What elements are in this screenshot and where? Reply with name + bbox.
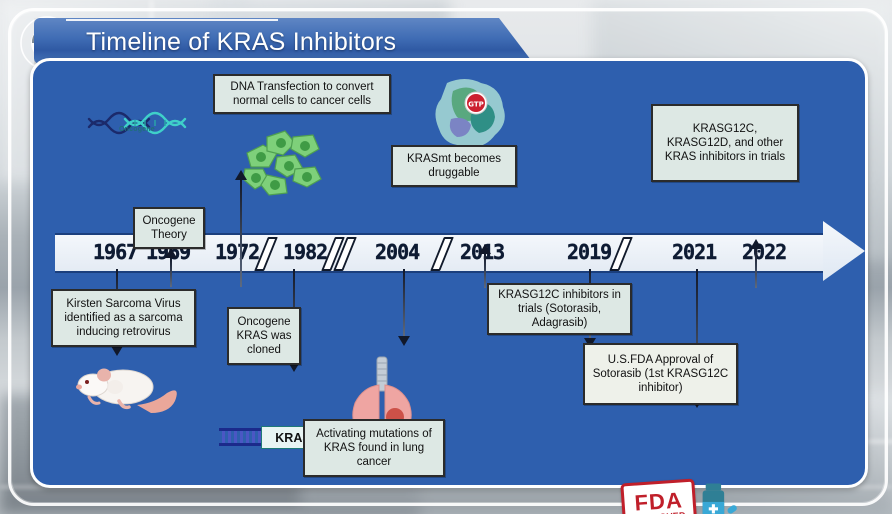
pill-bottle-icon — [698, 479, 738, 514]
callout-krasg12c-trials[interactable]: KRASG12C inhibitors in trials (Sotorasib… — [487, 283, 632, 335]
fda-approved-stamp: FDA APPROVED — [620, 478, 697, 514]
mouse-icon — [71, 359, 183, 421]
year-label-2019: 2019 — [567, 239, 611, 265]
connector-arrow-down — [403, 269, 405, 337]
infographic-canvas: Timeline of KRAS Inhibitors Oncogene — [0, 0, 892, 514]
callout-dna-transfection[interactable]: DNA Transfection to convert normal cells… — [213, 74, 391, 114]
page-title: Timeline of KRAS Inhibitors — [86, 24, 516, 60]
callout-oncogene-theory[interactable]: Oncogene Theory — [133, 207, 205, 249]
year-label-1967: 1967 — [93, 239, 137, 265]
year-label-1982: 1982 — [283, 239, 327, 265]
callout-fda-approval-sotorasib[interactable]: U.S.FDA Approval of Sotorasib (1st KRASG… — [583, 343, 738, 405]
timeline-arrowhead — [823, 221, 865, 281]
year-label-2021: 2021 — [672, 239, 716, 265]
year-label-2022: 2022 — [742, 239, 786, 265]
year-label-2004: 2004 — [375, 239, 419, 265]
connector-arrow-up — [240, 179, 242, 287]
callout-krasmt-druggable[interactable]: KRASmt becomes druggable — [391, 145, 517, 187]
connector-arrow-up — [170, 257, 172, 287]
svg-text:GTP: GTP — [468, 101, 484, 109]
callout-activating-mutations-lung[interactable]: Activating mutations of KRAS found in lu… — [303, 419, 445, 477]
banner-rule — [66, 19, 278, 21]
callout-kras-inhibitors-trials[interactable]: KRASG12C, KRASG12D, and other KRAS inhib… — [651, 104, 799, 182]
timeline-panel: Oncogene — [30, 58, 868, 488]
year-label-1972: 1972 — [215, 239, 259, 265]
dna-oncogene-label: Oncogene — [119, 126, 155, 133]
connector-arrow-up — [755, 248, 757, 288]
cancer-cells-icon — [231, 123, 335, 201]
connector-arrow-up — [484, 253, 486, 288]
callout-kirsten-sarcoma-virus[interactable]: Kirsten Sarcoma Virus identified as a sa… — [51, 289, 196, 347]
callout-kras-cloned[interactable]: Oncogene KRAS was cloned — [227, 307, 301, 365]
protein-icon: GTP — [427, 73, 513, 155]
